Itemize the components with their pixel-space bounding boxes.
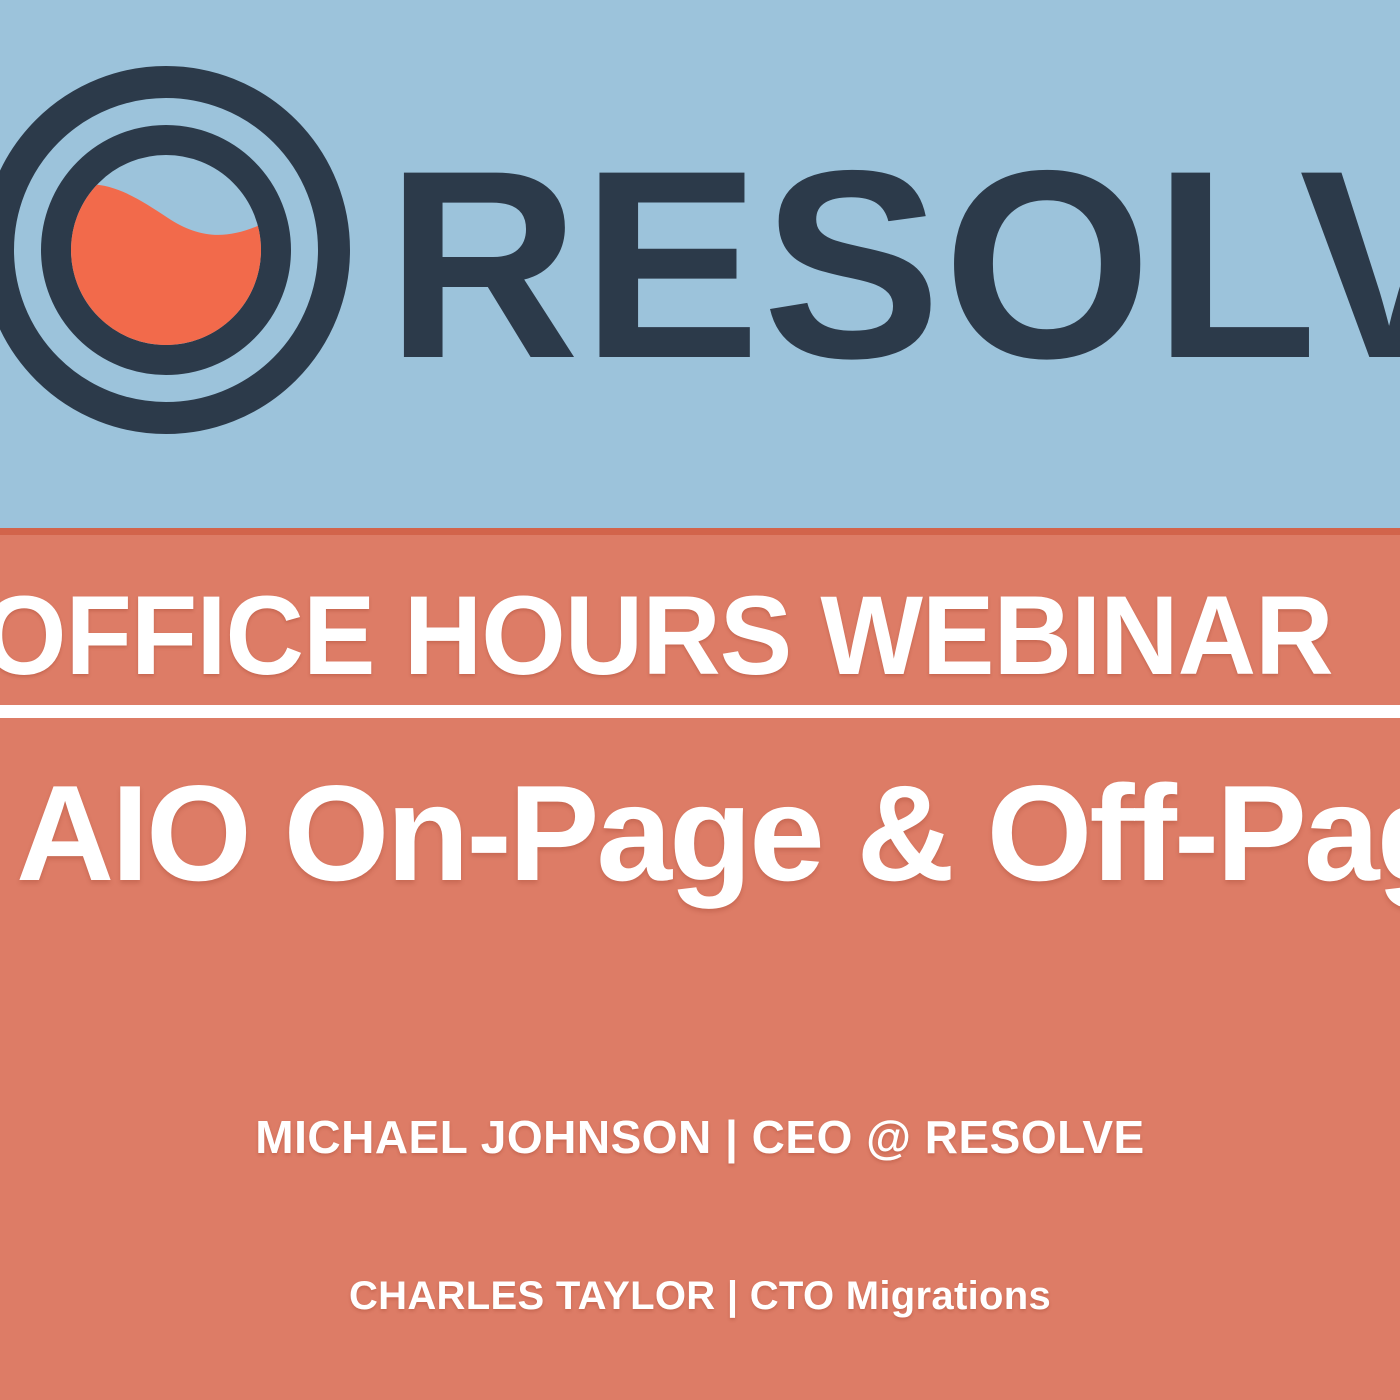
brand-band: RESOLVE — [0, 0, 1400, 528]
speaker-line-primary: MICHAEL JOHNSON | CEO @ RESOLVE — [0, 1110, 1400, 1164]
speaker-line-secondary: CHARLES TAYLOR | CTO Migrations — [0, 1274, 1400, 1319]
webinar-title-slide: RESOLVE OFFICE HOURS WEBINAR AIO On-Page… — [0, 0, 1400, 1400]
resolve-target-logo-icon — [0, 66, 350, 434]
kicker-underline-rule — [0, 705, 1400, 718]
content-band: OFFICE HOURS WEBINAR AIO On-Page & Off-P… — [0, 535, 1400, 1400]
speaker-list: MICHAEL JOHNSON | CEO @ RESOLVE CHARLES … — [0, 1110, 1400, 1319]
slide-headline: AIO On-Page & Off-Page — [16, 765, 1400, 901]
band-divider — [0, 528, 1400, 535]
resolve-wordmark: RESOLVE — [386, 130, 1400, 398]
webinar-kicker: OFFICE HOURS WEBINAR — [0, 580, 1379, 692]
